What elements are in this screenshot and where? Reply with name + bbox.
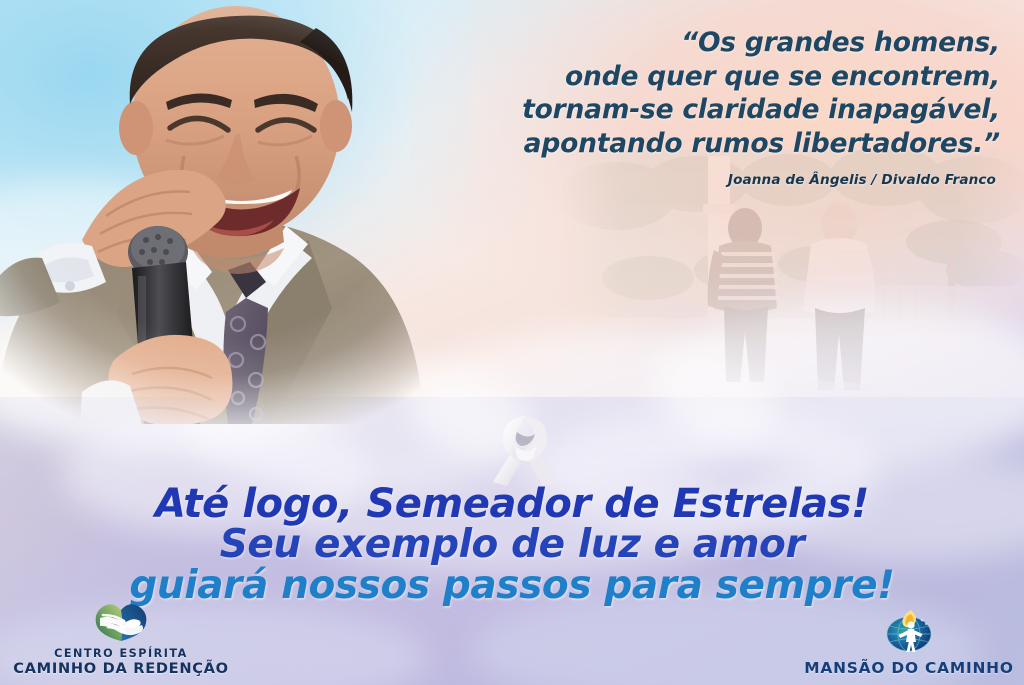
white-mourning-ribbon-icon <box>487 406 563 488</box>
quote-line-2: onde quer que se encontrem, <box>400 60 1000 94</box>
globe-torch-logo-icon <box>802 608 1016 658</box>
logo-left-line-2: CAMINHO DA REDENÇÃO <box>6 661 236 677</box>
headline-line-1: Até logo, Semeador de Estrelas! <box>0 484 1024 525</box>
logo-left-line-1: CENTRO ESPÍRITA <box>6 648 236 661</box>
portrait-photo <box>0 0 460 424</box>
quote-line-4: apontando rumos libertadores.” <box>400 127 1000 161</box>
headline-line-2: Seu exemplo de luz e amor <box>0 525 1024 565</box>
logo-centro-espirita: CENTRO ESPÍRITA CAMINHO DA REDENÇÃO <box>6 602 236 677</box>
memorial-poster: “Os grandes homens, onde quer que se enc… <box>0 0 1024 685</box>
logo-mansao-do-caminho: MANSÃO DO CAMINHO <box>802 608 1016 677</box>
quote-attribution: Joanna de Ângelis / Divaldo Franco <box>396 172 996 188</box>
headline-text: Até logo, Semeador de Estrelas! Seu exem… <box>0 484 1024 606</box>
quote-line-3: tornam-se claridade inapagável, <box>400 93 1000 127</box>
background-photo <box>556 150 1024 440</box>
logo-right-line-1: MANSÃO DO CAMINHO <box>802 660 1016 677</box>
headline-line-3: guiará nossos passos para sempre! <box>0 566 1024 606</box>
quote-line-1: “Os grandes homens, <box>400 26 1000 60</box>
quote-text: “Os grandes homens, onde quer que se enc… <box>400 26 1000 160</box>
heart-hands-logo-icon <box>6 602 236 646</box>
